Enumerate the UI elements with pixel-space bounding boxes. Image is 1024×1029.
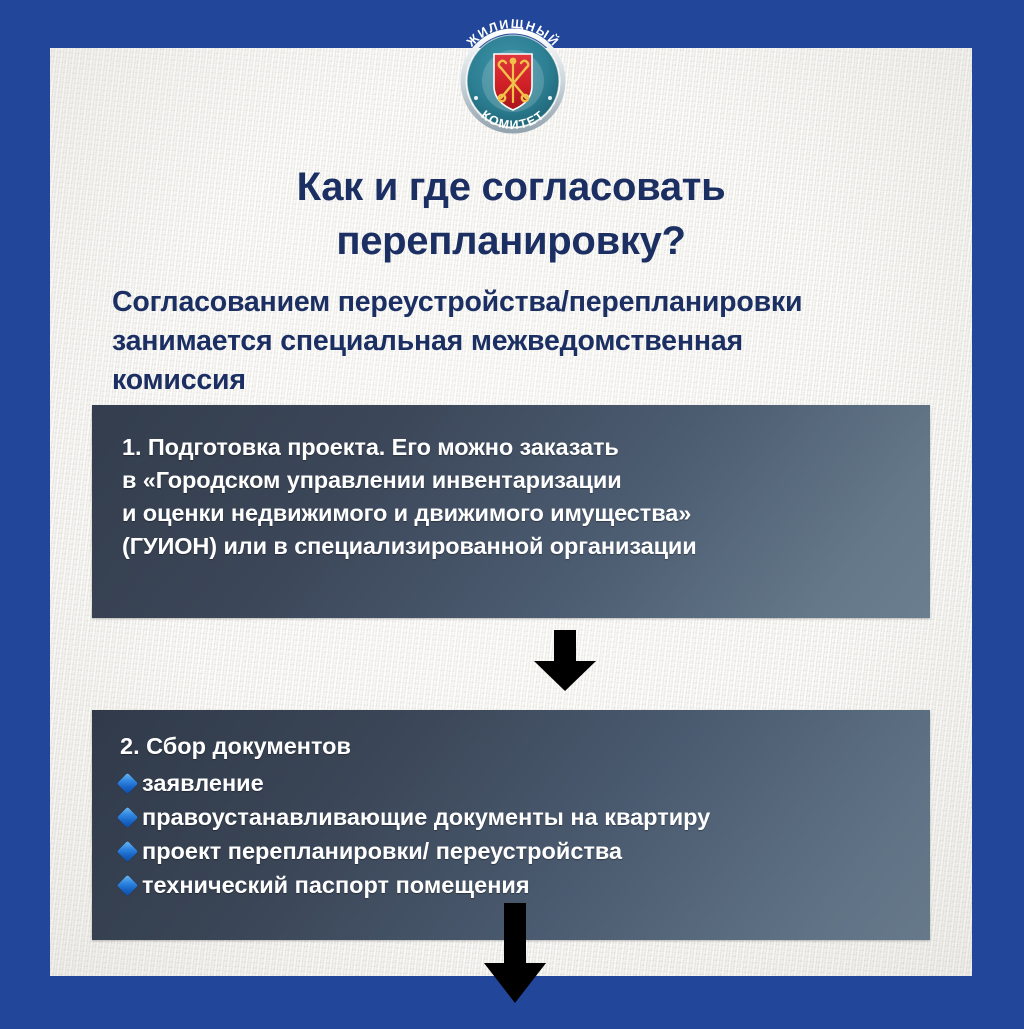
- paper-sheet: Как и где согласовать перепланировку? Со…: [50, 48, 972, 976]
- list-item: технический паспорт помещения: [120, 868, 930, 902]
- down-arrow-icon-1: [530, 630, 600, 697]
- list-item-label: заявление: [142, 766, 264, 800]
- step-1-box: 1. Подготовка проекта. Его можно заказат…: [92, 405, 930, 618]
- list-item-label: правоустанавливающие документы на кварти…: [142, 800, 710, 834]
- list-item-label: проект перепланировки/ переустройства: [142, 834, 622, 868]
- step-1-text: 1. Подготовка проекта. Его можно заказат…: [122, 431, 930, 563]
- list-item: заявление: [120, 766, 930, 800]
- list-item: проект перепланировки/ переустройства: [120, 834, 930, 868]
- coat-of-arms-shield-icon: [494, 54, 532, 110]
- diamond-bullet-icon: [117, 772, 138, 793]
- step-2-heading: 2. Сбор документов: [120, 730, 930, 763]
- zhilishchny-komitet-logo: ЖИЛИЩНЫЙ КОМИТЕТ: [440, 18, 586, 140]
- diamond-bullet-icon: [117, 840, 138, 861]
- down-arrow-icon-2: [480, 903, 550, 1029]
- diamond-bullet-icon: [117, 874, 138, 895]
- page-subtitle: Согласованием переустройства/перепланиро…: [112, 283, 952, 400]
- page-title: Как и где согласовать перепланировку?: [110, 160, 912, 268]
- list-item: правоустанавливающие документы на кварти…: [120, 800, 930, 834]
- diamond-bullet-icon: [117, 806, 138, 827]
- list-item-label: технический паспорт помещения: [142, 868, 530, 902]
